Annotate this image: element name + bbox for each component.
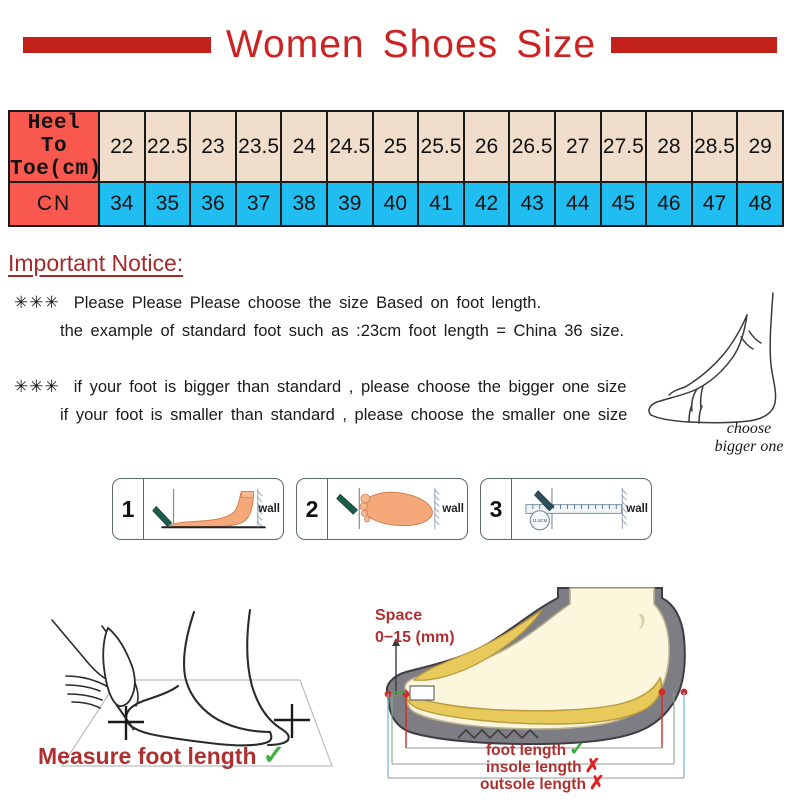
- title-word-women: Women: [226, 23, 365, 66]
- wall-label: wall: [258, 503, 280, 515]
- red-cross-icon: ✗: [589, 773, 605, 794]
- table-cell: 29: [737, 111, 783, 182]
- wall-label: wall: [442, 503, 464, 515]
- table-cell: 22.5: [145, 111, 191, 182]
- space-label: Space 0−15 (mm): [375, 605, 455, 648]
- page-title-band: WomenShoesSize: [0, 18, 800, 72]
- measure-foot-length-label: Measure foot length✓: [38, 740, 285, 771]
- outsole-length-label: outsole length✗: [480, 772, 605, 795]
- table-cell: 28: [646, 111, 692, 182]
- table-cell: 44: [555, 182, 601, 226]
- space-label-line-2: 0−15 (mm): [375, 627, 455, 649]
- caption-line-2: bigger one: [694, 438, 800, 456]
- table-cell: 26.5: [509, 111, 555, 182]
- table-cell: 43: [509, 182, 555, 226]
- title-rule-left: [23, 37, 211, 53]
- asterisk-marker: ✳✳✳: [14, 293, 60, 312]
- magnifier-reading: 11.5CM: [532, 518, 547, 523]
- table-cell: 39: [327, 182, 373, 226]
- row-header-heel-to-toe: Heel To Toe(cm): [9, 111, 99, 182]
- title-rule-right: [611, 37, 777, 53]
- table-row-heel-to-toe: Heel To Toe(cm) 22 22.5 23 23.5 24 24.5 …: [9, 111, 783, 182]
- notice-line: Please Please Please choose the size Bas…: [74, 294, 541, 312]
- table-cell: 25.5: [418, 111, 464, 182]
- measure-label-text: Measure foot length: [38, 743, 257, 769]
- table-row-cn: CN 34 35 36 37 38 39 40 41 42 43 44 45 4…: [9, 182, 783, 226]
- important-notice-heading: Important Notice:: [8, 250, 183, 277]
- table-cell: 23.5: [236, 111, 282, 182]
- table-cell: 36: [190, 182, 236, 226]
- table-cell: 24: [281, 111, 327, 182]
- table-cell: 26: [464, 111, 510, 182]
- measure-steps: 1 wall 2: [112, 478, 652, 540]
- table-cell: 24.5: [327, 111, 373, 182]
- caption-line-1: choose: [694, 420, 800, 438]
- title-word-size: Size: [516, 23, 596, 66]
- table-cell: 41: [418, 182, 464, 226]
- table-cell: 37: [236, 182, 282, 226]
- step-1: 1 wall: [112, 478, 284, 540]
- table-cell: 23: [190, 111, 236, 182]
- step-3: 3 11.5CM: [480, 478, 652, 540]
- wall-label: wall: [626, 503, 648, 515]
- step-number: 1: [113, 479, 144, 539]
- table-cell: 46: [646, 182, 692, 226]
- table-cell: 45: [601, 182, 647, 226]
- step-2-illustration: wall: [328, 479, 467, 539]
- page-title: WomenShoesSize: [217, 23, 605, 67]
- step-3-illustration: 11.5CM wall: [512, 479, 651, 539]
- table-cell: 47: [692, 182, 738, 226]
- table-cell: 42: [464, 182, 510, 226]
- notice-line: the example of standard foot such as :23…: [60, 322, 624, 341]
- table-cell: 27: [555, 111, 601, 182]
- row-header-cn: CN: [9, 182, 99, 226]
- size-conversion-table: Heel To Toe(cm) 22 22.5 23 23.5 24 24.5 …: [8, 110, 784, 227]
- outsole-length-text: outsole length: [480, 776, 586, 793]
- notice-line: if your foot is smaller than standard , …: [60, 406, 627, 425]
- step-1-illustration: wall: [144, 479, 283, 539]
- table-cell: 40: [373, 182, 419, 226]
- title-word-shoes: Shoes: [383, 23, 499, 66]
- notice-line: if your foot is bigger than standard , p…: [74, 378, 627, 396]
- table-cell: 22: [99, 111, 145, 182]
- table-cell: 27.5: [601, 111, 647, 182]
- table-cell: 34: [99, 182, 145, 226]
- table-cell: 35: [145, 182, 191, 226]
- table-cell: 25: [373, 111, 419, 182]
- notice-block-1: ✳✳✳Please Please Please choose the size …: [14, 293, 624, 341]
- green-check-icon: ✓: [263, 740, 286, 770]
- table-cell: 48: [737, 182, 783, 226]
- step-number: 3: [481, 479, 512, 539]
- space-label-line-1: Space: [375, 605, 455, 627]
- table-cell: 38: [281, 182, 327, 226]
- notice-block-2: ✳✳✳if your foot is bigger than standard …: [14, 377, 627, 425]
- asterisk-marker: ✳✳✳: [14, 377, 60, 396]
- table-cell: 28.5: [692, 111, 738, 182]
- choose-bigger-caption: choose bigger one: [694, 420, 800, 456]
- step-number: 2: [297, 479, 328, 539]
- step-2: 2 wall: [296, 478, 468, 540]
